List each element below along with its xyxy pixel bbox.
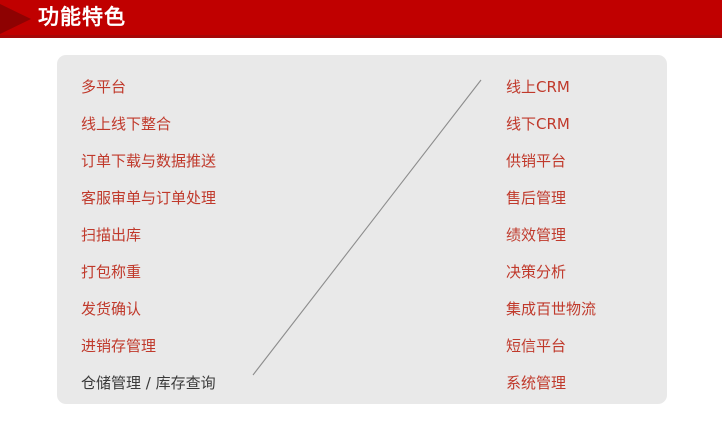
feature-item[interactable]: 集成百世物流 [506,291,596,328]
feature-item[interactable]: 打包称重 [81,254,216,291]
feature-item[interactable]: 短信平台 [506,328,596,365]
feature-item[interactable]: 售后管理 [506,180,596,217]
feature-item[interactable]: 线上CRM [506,69,596,106]
feature-item[interactable]: 线下CRM [506,106,596,143]
feature-columns: 多平台 线上线下整合 订单下载与数据推送 客服审单与订单处理 扫描出库 打包称重… [57,55,667,404]
feature-item[interactable]: 发货确认 [81,291,216,328]
feature-item[interactable]: 进销存管理 [81,328,216,365]
feature-item[interactable]: 订单下载与数据推送 [81,143,216,180]
page-title: 功能特色 [38,0,126,35]
feature-item[interactable]: 线上线下整合 [81,106,216,143]
feature-column-left: 多平台 线上线下整合 订单下载与数据推送 客服审单与订单处理 扫描出库 打包称重… [81,69,216,402]
feature-item[interactable]: 客服审单与订单处理 [81,180,216,217]
feature-item[interactable]: 仓储管理 / 库存查询 [81,365,216,402]
feature-item[interactable]: 系统管理 [506,365,596,402]
feature-column-right: 线上CRM 线下CRM 供销平台 售后管理 绩效管理 决策分析 集成百世物流 短… [506,69,596,402]
feature-item[interactable]: 供销平台 [506,143,596,180]
triangle-right-icon [0,4,31,34]
feature-item[interactable]: 决策分析 [506,254,596,291]
feature-item[interactable]: 扫描出库 [81,217,216,254]
features-panel: 多平台 线上线下整合 订单下载与数据推送 客服审单与订单处理 扫描出库 打包称重… [57,55,667,404]
feature-item[interactable]: 多平台 [81,69,216,106]
header-bar: 功能特色 [0,0,722,38]
feature-item[interactable]: 绩效管理 [506,217,596,254]
